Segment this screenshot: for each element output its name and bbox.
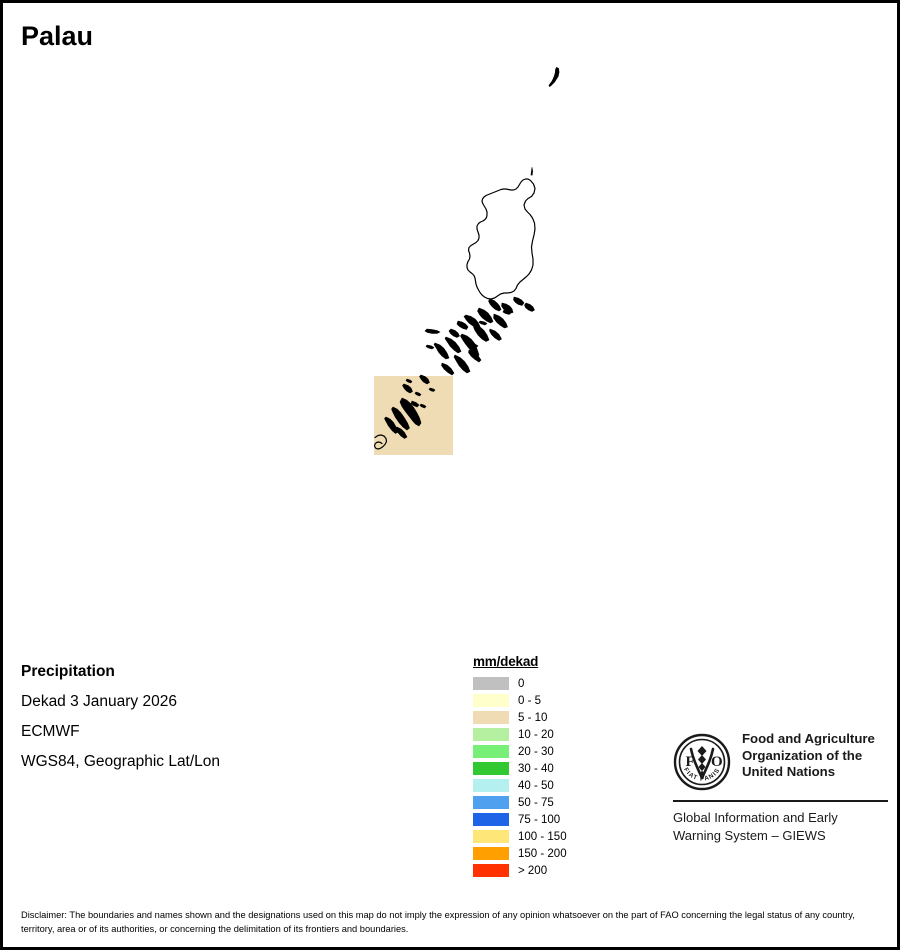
legend-label-4: 20 - 30 [518, 746, 554, 758]
legend-swatch-6 [473, 779, 509, 792]
rock-islands-cluster [425, 297, 535, 375]
legend-label-5: 30 - 40 [518, 763, 554, 775]
fao-name-line-2: Organization of the [742, 748, 875, 765]
legend-label-1: 0 - 5 [518, 695, 541, 707]
legend-label-7: 50 - 75 [518, 797, 554, 809]
island-babeldaob [467, 179, 535, 299]
legend-swatch-0 [473, 677, 509, 690]
giews-subtitle: Global Information and Early Warning Sys… [673, 809, 888, 844]
fao-giews-block: F O FIAT PANIS Food and Agriculture Orga… [673, 731, 888, 844]
fao-organization-name: Food and Agriculture Organization of the… [742, 731, 875, 781]
legend-item-1: 0 - 5 [473, 692, 593, 709]
info-projection: WGS84, Geographic Lat/Lon [21, 747, 351, 777]
legend-item-9: 100 - 150 [473, 828, 593, 845]
legend-swatch-10 [473, 847, 509, 860]
legend-item-3: 10 - 20 [473, 726, 593, 743]
legend-item-0: 0 [473, 675, 593, 692]
legend-item-4: 20 - 30 [473, 743, 593, 760]
legend-label-11: > 200 [518, 865, 547, 877]
legend-label-0: 0 [518, 678, 524, 690]
island-north-tip-mark [531, 168, 533, 176]
legend-item-11: > 200 [473, 862, 593, 879]
legend-label-8: 75 - 100 [518, 814, 560, 826]
legend-swatch-2 [473, 711, 509, 724]
fao-logo-icon: F O FIAT PANIS [673, 733, 731, 791]
info-period: Dekad 3 January 2026 [21, 687, 351, 717]
legend-swatch-11 [473, 864, 509, 877]
legend-swatch-8 [473, 813, 509, 826]
info-source: ECMWF [21, 717, 351, 747]
legend-item-8: 75 - 100 [473, 811, 593, 828]
legend-swatch-9 [473, 830, 509, 843]
legend-label-9: 100 - 150 [518, 831, 567, 843]
legend-item-10: 150 - 200 [473, 845, 593, 862]
legend-swatch-7 [473, 796, 509, 809]
legend-swatch-1 [473, 694, 509, 707]
legend-label-3: 10 - 20 [518, 729, 554, 741]
map-page: Palau [0, 0, 900, 950]
legend-swatch-4 [473, 745, 509, 758]
legend-label-10: 150 - 200 [518, 848, 567, 860]
legend-swatch-5 [473, 762, 509, 775]
fao-name-line-3: United Nations [742, 764, 875, 781]
legend-item-7: 50 - 75 [473, 794, 593, 811]
map-info-block: Precipitation Dekad 3 January 2026 ECMWF… [21, 657, 351, 777]
legend-item-5: 30 - 40 [473, 760, 593, 777]
legend-item-2: 5 - 10 [473, 709, 593, 726]
legend-title: mm/dekad [473, 654, 593, 669]
giews-line-2: Warning System – GIEWS [673, 827, 888, 845]
island-kayangel [549, 68, 559, 87]
giews-line-1: Global Information and Early [673, 809, 888, 827]
fao-name-line-1: Food and Agriculture [742, 731, 875, 748]
map-legend: mm/dekad 0 0 - 5 5 - 10 10 - 20 20 - 30 … [473, 654, 593, 879]
legend-swatch-3 [473, 728, 509, 741]
info-variable: Precipitation [21, 657, 351, 687]
legend-label-6: 40 - 50 [518, 780, 554, 792]
legend-label-2: 5 - 10 [518, 712, 547, 724]
disclaimer-text: Disclaimer: The boundaries and names sho… [21, 908, 881, 936]
fao-divider [673, 800, 888, 802]
legend-item-6: 40 - 50 [473, 777, 593, 794]
